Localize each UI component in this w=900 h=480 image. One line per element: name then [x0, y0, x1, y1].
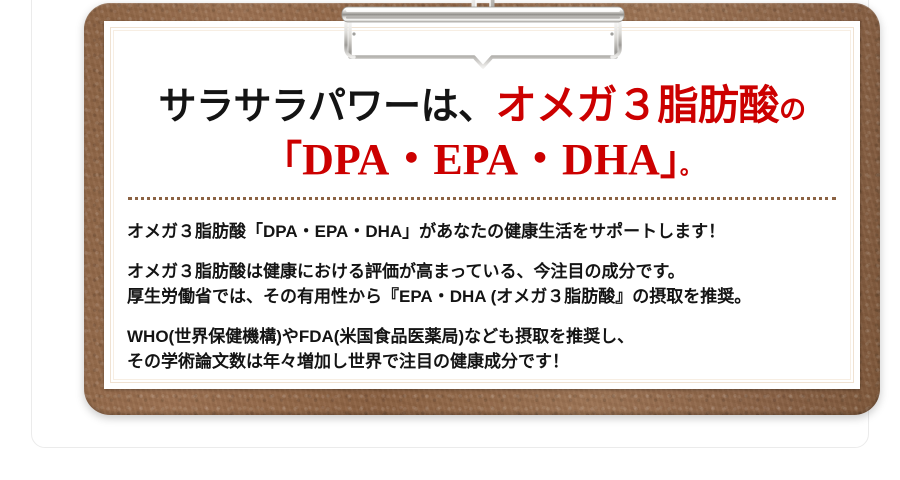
- evaluation-paragraph: オメガ３脂肪酸は健康における評価が高まっている、今注目の成分です。 厚生労働省で…: [127, 259, 827, 309]
- headline-line-2: 「DPA・EPA・DHA」。: [104, 134, 860, 193]
- headline-no-particle: の: [779, 95, 806, 125]
- headline-open-bracket: 「: [262, 138, 302, 183]
- outer-card-panel: サラサラパワーは、オメガ３脂肪酸の 「DPA・EPA・DHA」。 オメガ３脂肪酸…: [31, 0, 869, 448]
- headline-omega3-text: オメガ３脂肪酸: [496, 82, 780, 128]
- body-line: WHO(世界保健機構)やFDA(米国食品医薬局)なども摂取を推奨し、: [127, 324, 827, 349]
- authority-paragraph: WHO(世界保健機構)やFDA(米国食品医薬局)なども摂取を推奨し、 その学術論…: [127, 324, 827, 374]
- headline-period: 。: [680, 154, 702, 179]
- body-line: オメガ３脂肪酸は健康における評価が高まっている、今注目の成分です。: [127, 259, 827, 284]
- body-line: オメガ３脂肪酸「DPA・EPA・DHA」があなたの健康生活をサポートします！: [127, 219, 827, 244]
- body-copy: オメガ３脂肪酸「DPA・EPA・DHA」があなたの健康生活をサポートします！ オ…: [127, 219, 827, 374]
- headline-close-bracket: 」: [660, 138, 680, 183]
- body-line: その学術論文数は年々増加し世界で注目の健康成分です！: [127, 349, 827, 374]
- body-line: 厚生労働省では、その有用性から『EPA・DHA (オメガ３脂肪酸』の摂取を推奨。: [127, 284, 827, 309]
- dotted-divider: [128, 197, 836, 200]
- headline-line-1: サラサラパワーは、オメガ３脂肪酸の: [104, 83, 860, 132]
- headline: サラサラパワーは、オメガ３脂肪酸の 「DPA・EPA・DHA」。: [104, 83, 860, 193]
- lead-paragraph: オメガ３脂肪酸「DPA・EPA・DHA」があなたの健康生活をサポートします！: [127, 219, 827, 244]
- headline-lead-text: サラサラパワーは、: [158, 86, 495, 128]
- headline-dpa-epa-dha: DPA・EPA・DHA: [302, 135, 660, 184]
